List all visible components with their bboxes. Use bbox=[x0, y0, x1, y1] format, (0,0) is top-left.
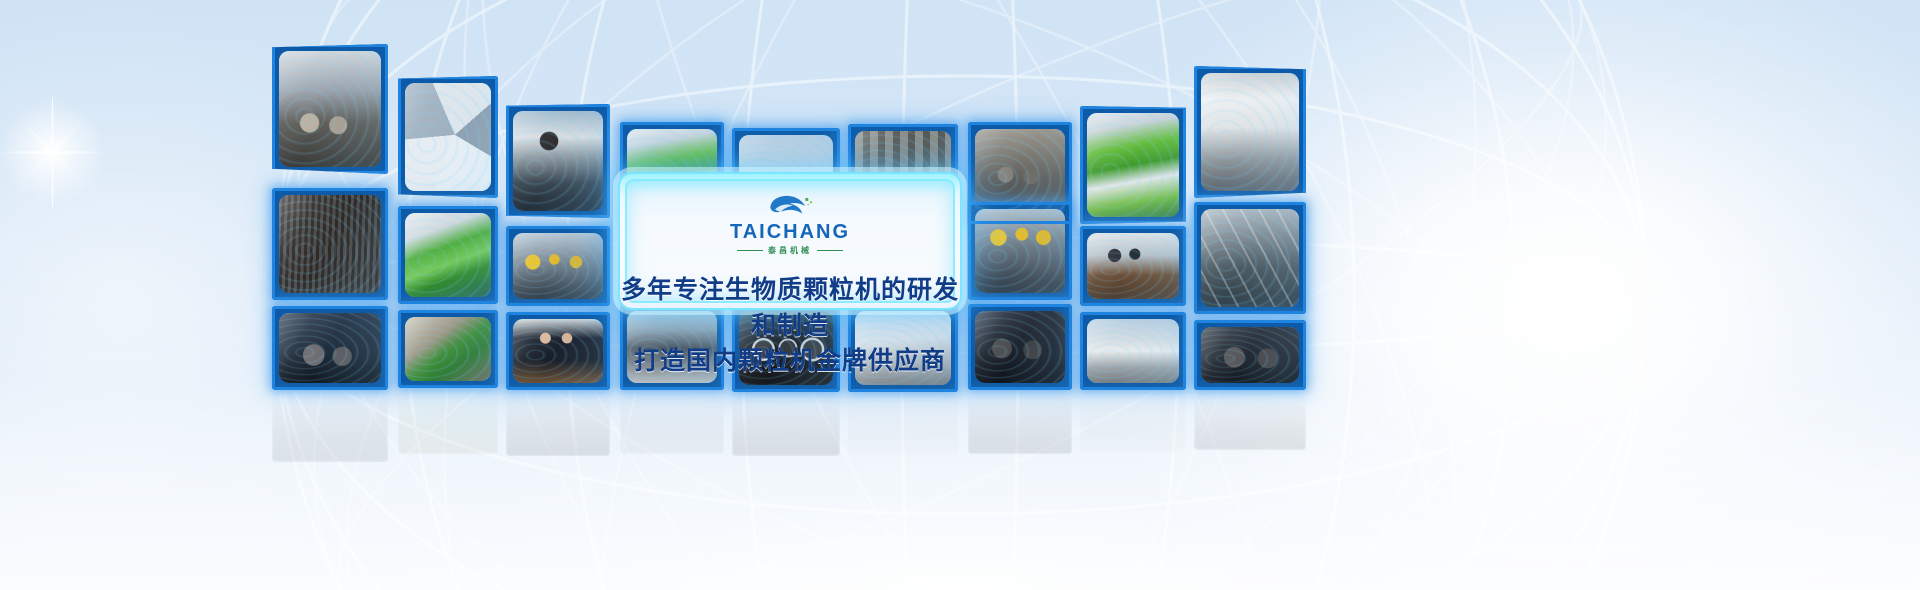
slogan-line-1: 多年专注生物质颗粒机的研发和制造 bbox=[621, 275, 959, 340]
tile-roller-shells[interactable] bbox=[968, 304, 1072, 390]
slogan-panel: TAICHANG 泰昌机械 多年专注生物质颗粒机的研发和制造 打造国内颗粒机金牌… bbox=[620, 174, 960, 308]
tile-gear-reducers[interactable] bbox=[272, 44, 388, 174]
tile-reflection bbox=[506, 392, 610, 456]
logo-rule-left bbox=[737, 250, 763, 251]
tile-reflection bbox=[272, 392, 388, 462]
brand-chinese-row: 泰昌机械 bbox=[737, 245, 843, 256]
tile-worker-lathe[interactable] bbox=[506, 104, 610, 218]
tile-turbine-blade[interactable] bbox=[398, 76, 498, 198]
tile-office-meeting[interactable] bbox=[1080, 226, 1186, 306]
tile-die-drum[interactable] bbox=[272, 188, 388, 300]
brand-logo[interactable]: TAICHANG 泰昌机械 bbox=[730, 191, 850, 256]
tile-workshop-inspect[interactable] bbox=[968, 202, 1072, 300]
brand-chinese-name: 泰昌机械 bbox=[768, 245, 812, 256]
tile-workers-hardhat[interactable] bbox=[506, 226, 610, 306]
brand-wordmark: TAICHANG bbox=[730, 222, 850, 242]
slogan-text: 多年专注生物质颗粒机的研发和制造 打造国内颗粒机金牌供应商 bbox=[620, 272, 960, 379]
logo-rule-right bbox=[817, 250, 843, 251]
slogan-line-2: 打造国内颗粒机金牌供应商 bbox=[620, 343, 960, 379]
tile-factory-yard[interactable] bbox=[1080, 312, 1186, 390]
tile-rollers-dark[interactable] bbox=[272, 306, 388, 390]
tile-handshake[interactable] bbox=[506, 312, 610, 390]
tile-reflection bbox=[848, 394, 958, 456]
tile-green-lathe[interactable] bbox=[398, 206, 498, 304]
tile-machine-parts[interactable] bbox=[1194, 320, 1306, 390]
tile-reflection bbox=[620, 392, 724, 454]
video-wall bbox=[0, 0, 1920, 590]
tile-reflection bbox=[1080, 392, 1186, 452]
tile-green-machine-row[interactable] bbox=[1080, 106, 1186, 224]
tile-cnc-machining-center[interactable] bbox=[1194, 66, 1306, 198]
tile-reflection bbox=[398, 390, 498, 454]
tile-reflection bbox=[732, 394, 840, 456]
taichang-bird-logo-icon bbox=[762, 191, 818, 221]
tile-reflection bbox=[968, 392, 1072, 454]
hero-banner: TAICHANG 泰昌机械 多年专注生物质颗粒机的研发和制造 打造国内颗粒机金牌… bbox=[0, 0, 1920, 590]
tile-plant-interior[interactable] bbox=[1194, 202, 1306, 314]
tile-reflection bbox=[1194, 392, 1306, 450]
tile-green-crate[interactable] bbox=[398, 310, 498, 388]
